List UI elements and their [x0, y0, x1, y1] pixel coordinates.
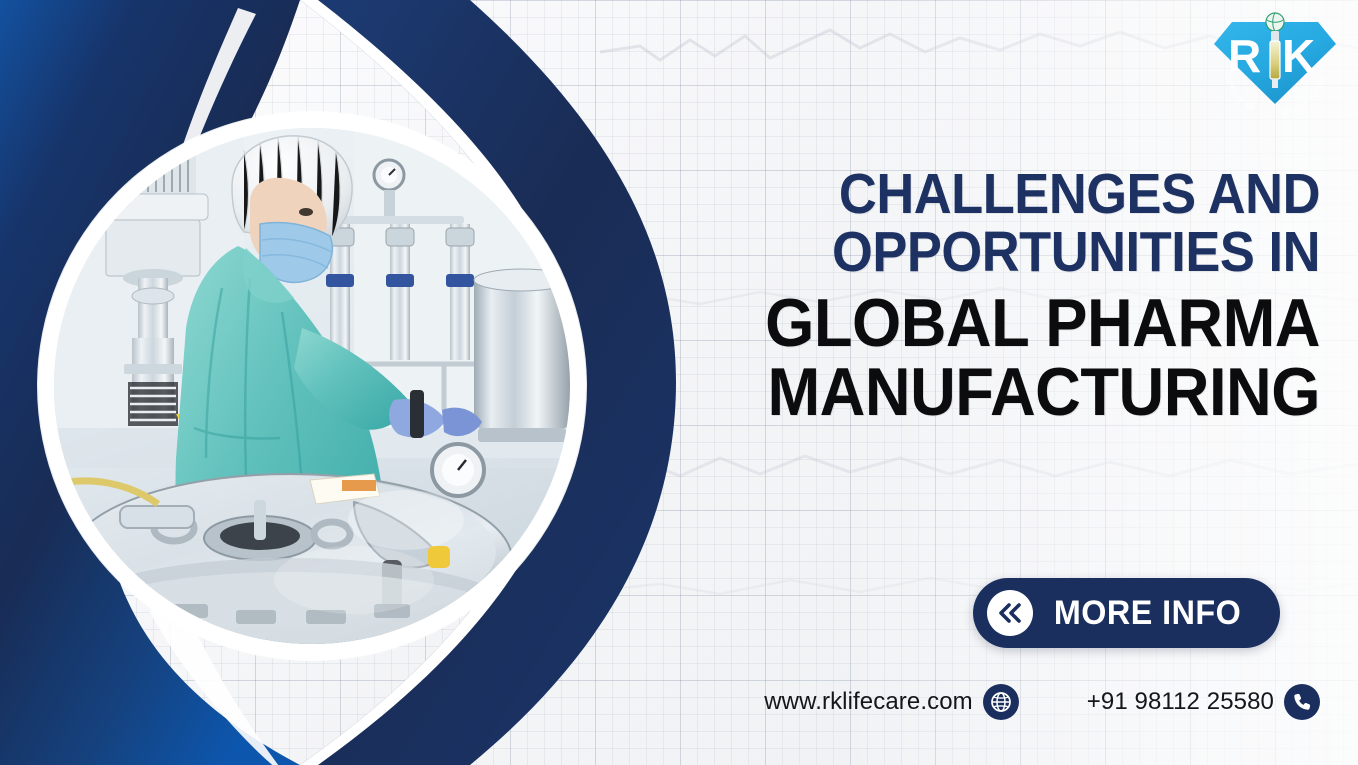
website-text: www.rklifecare.com [764, 688, 973, 716]
promotional-banner: CHALLENGES AND OPPORTUNITIES IN GLOBAL P… [0, 0, 1358, 765]
headline-line-2: OPPORTUNITIES IN [731, 226, 1320, 279]
phone-glyph [1291, 691, 1313, 713]
headline-line-1: CHALLENGES AND [731, 168, 1320, 221]
phone-text: +91 98112 25580 [1087, 688, 1274, 716]
headline-line-3: GLOBAL PHARMA [725, 292, 1320, 355]
globe-glyph [989, 690, 1013, 714]
svg-text:K: K [1282, 30, 1315, 82]
headline-block: CHALLENGES AND OPPORTUNITIES IN GLOBAL P… [680, 168, 1320, 424]
photo-circle-frame [38, 112, 586, 660]
phone-icon [1284, 684, 1320, 720]
svg-text:R: R [1228, 30, 1261, 82]
pharma-manufacturing-photo [54, 128, 570, 644]
rk-lifecare-logo[interactable]: R K Caring for life because your life ma… [1214, 4, 1336, 116]
more-info-button[interactable]: MORE INFO [973, 578, 1280, 648]
globe-icon [983, 684, 1019, 720]
contact-footer: www.rklifecare.com +91 98112 25580 [764, 684, 1320, 720]
website-contact[interactable]: www.rklifecare.com [764, 684, 1019, 720]
photo-clip [54, 128, 570, 644]
chevron-glyph [997, 602, 1023, 624]
headline-line-4: MANUFACTURING [725, 361, 1320, 424]
phone-contact[interactable]: +91 98112 25580 [1087, 684, 1320, 720]
more-info-label: MORE INFO [1054, 594, 1241, 633]
double-chevron-left-icon [987, 590, 1033, 636]
